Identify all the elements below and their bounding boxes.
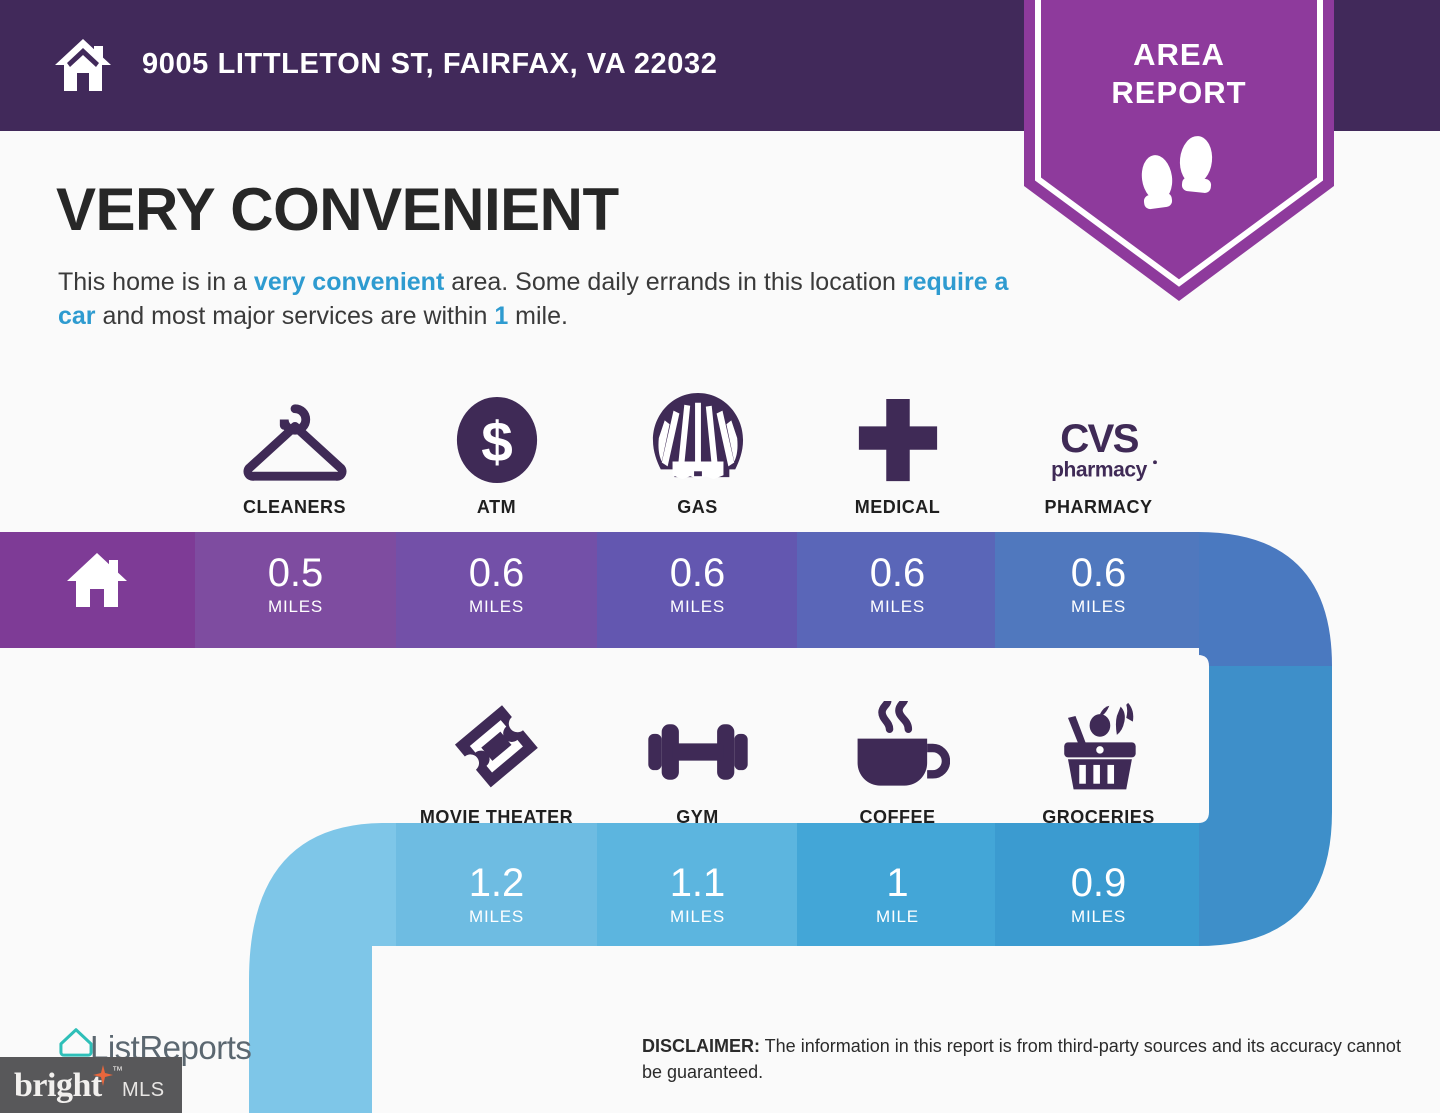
- icon-cell-atm: $ ATM: [396, 393, 597, 518]
- icon-label: MOVIE THEATER: [420, 807, 573, 828]
- distance-value: 0.6: [1071, 551, 1127, 595]
- grocery-basket-icon: [1047, 703, 1151, 795]
- watermark-brand: bright: [14, 1067, 102, 1105]
- distance-value: 1: [886, 861, 908, 905]
- icon-cell-pharmacy: CVS pharmacy PHARMACY: [998, 393, 1199, 518]
- distance-value: 0.5: [268, 551, 324, 595]
- distance-unit: MILES: [1071, 597, 1126, 617]
- description-text: area. Some daily errands in this locatio…: [444, 268, 903, 296]
- home-marker-icon: [65, 549, 129, 611]
- shell-icon: [651, 393, 745, 485]
- icon-label: COFFEE: [859, 807, 935, 828]
- medical-cross-icon: [854, 393, 942, 485]
- icon-label: GYM: [676, 807, 719, 828]
- star-icon: [92, 1065, 114, 1087]
- distance-unit: MILES: [870, 597, 925, 617]
- description-text: mile.: [508, 302, 568, 330]
- icon-cell-groceries: GROCERIES: [998, 703, 1199, 828]
- description-highlight: 1: [494, 302, 508, 330]
- distance-unit: MILES: [469, 907, 524, 927]
- hanger-icon: [236, 393, 354, 485]
- distance-unit: MILES: [1071, 907, 1126, 927]
- badge-line-2: REPORT: [1024, 74, 1334, 112]
- dollar-oval-icon: $: [453, 393, 541, 485]
- description-text: This home is in a: [58, 268, 254, 296]
- icon-label: GROCERIES: [1042, 807, 1155, 828]
- distance-cell-pharmacy: 0.6 MILES: [998, 545, 1199, 623]
- watermark-suffix: MLS: [122, 1079, 165, 1102]
- row1-icons: CLEANERS $ ATM: [0, 393, 1440, 523]
- icon-label: GAS: [677, 497, 718, 518]
- distance-cell-cleaners: 0.5 MILES: [195, 545, 396, 623]
- distance-unit: MILES: [670, 597, 725, 617]
- distance-unit: MILES: [469, 597, 524, 617]
- distance-unit: MILE: [876, 907, 919, 927]
- watermark-tm: ™: [112, 1065, 123, 1077]
- icon-label: PHARMACY: [1044, 497, 1152, 518]
- disclaimer: DISCLAIMER: The information in this repo…: [642, 1033, 1402, 1085]
- description-highlight: very convenient: [254, 268, 444, 296]
- icon-cell-coffee: COFFEE: [797, 703, 998, 828]
- distance-cell-atm: 0.6 MILES: [396, 545, 597, 623]
- icon-cell-cleaners: CLEANERS: [194, 393, 395, 518]
- badge-text: AREA REPORT: [1024, 36, 1334, 112]
- area-report-page: 9005 LITTLETON ST, FAIRFAX, VA 22032 ARE…: [0, 0, 1440, 1113]
- distance-cell-gym: 1.1 MILES: [597, 855, 798, 933]
- distance-cell-groceries: 0.9 MILES: [998, 855, 1199, 933]
- icon-label: CLEANERS: [243, 497, 346, 518]
- distance-value: 1.2: [469, 861, 525, 905]
- distance-value: 0.9: [1071, 861, 1127, 905]
- svg-text:pharmacy: pharmacy: [1051, 458, 1147, 481]
- row2-icons: MOVIE THEATER GYM: [0, 703, 1440, 833]
- icon-cell-gas: GAS: [597, 393, 798, 518]
- description-text: and most major services are within: [96, 302, 495, 330]
- area-report-badge: AREA REPORT: [1024, 0, 1334, 301]
- distance-unit: MILES: [268, 597, 323, 617]
- home-icon: [52, 34, 114, 96]
- distance-value: 0.6: [670, 551, 726, 595]
- coffee-cup-icon: [846, 703, 950, 795]
- icon-label: MEDICAL: [855, 497, 941, 518]
- dumbbell-icon: [640, 703, 756, 795]
- distance-value: 1.1: [670, 861, 726, 905]
- movie-ticket-icon: [449, 703, 545, 795]
- bright-mls-watermark: bright ™ MLS: [0, 1057, 182, 1113]
- distance-value: 0.6: [469, 551, 525, 595]
- page-title: VERY CONVENIENT: [56, 175, 619, 244]
- icon-label: ATM: [477, 497, 516, 518]
- icon-cell-movie-theater: MOVIE THEATER: [396, 703, 597, 828]
- icon-cell-gym: GYM: [597, 703, 798, 828]
- distance-cell-gas: 0.6 MILES: [597, 545, 798, 623]
- disclaimer-label: DISCLAIMER:: [642, 1036, 760, 1056]
- distance-value: 0.6: [870, 551, 926, 595]
- property-address: 9005 LITTLETON ST, FAIRFAX, VA 22032: [142, 48, 717, 81]
- icon-cell-medical: MEDICAL: [797, 393, 998, 518]
- badge-line-1: AREA: [1024, 36, 1334, 74]
- distance-unit: MILES: [670, 907, 725, 927]
- svg-text:CVS: CVS: [1060, 416, 1138, 461]
- convenience-description: This home is in a very convenient area. …: [58, 265, 1018, 333]
- cvs-pharmacy-logo: CVS pharmacy: [1033, 393, 1165, 485]
- distance-cell-medical: 0.6 MILES: [797, 545, 998, 623]
- distance-cell-coffee: 1 MILE: [797, 855, 998, 933]
- svg-text:$: $: [481, 412, 513, 475]
- distance-cell-movie-theater: 1.2 MILES: [396, 855, 597, 933]
